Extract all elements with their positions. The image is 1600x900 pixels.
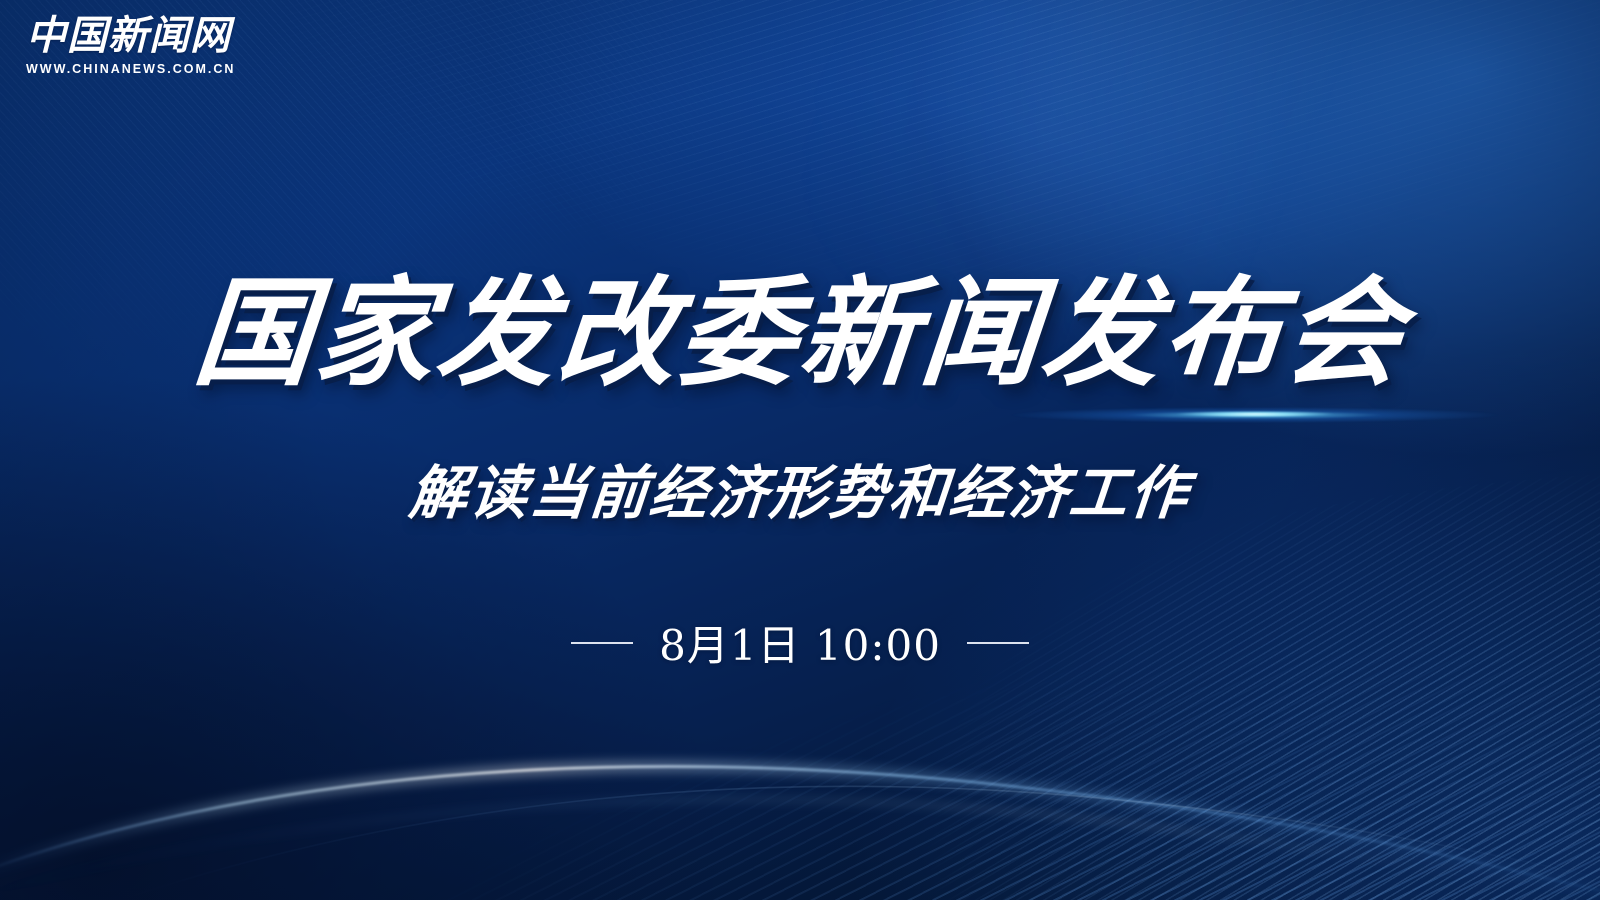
- logo-website-url: WWW.CHINANEWS.COM.CN: [26, 62, 226, 76]
- logo-name-chinese: 中国新闻网: [26, 14, 226, 57]
- event-datetime: 8月1日 10:00: [659, 612, 941, 673]
- page-title: 国家发改委新闻发布会: [0, 272, 1600, 397]
- poster-content: 国家发改委新闻发布会 解读当前经济形势和经济工作 8月1日 10:00: [0, 0, 1600, 900]
- divider-rule-right: [967, 642, 1029, 644]
- datetime-row: 8月1日 10:00: [0, 612, 1600, 673]
- page-subtitle: 解读当前经济形势和经济工作: [0, 446, 1600, 530]
- chinanews-logo[interactable]: 中国新闻网 WWW.CHINANEWS.COM.CN: [26, 14, 226, 76]
- press-conference-poster: 中国新闻网 WWW.CHINANEWS.COM.CN 国家发改委新闻发布会 解读…: [0, 0, 1600, 900]
- divider-rule-left: [571, 642, 633, 644]
